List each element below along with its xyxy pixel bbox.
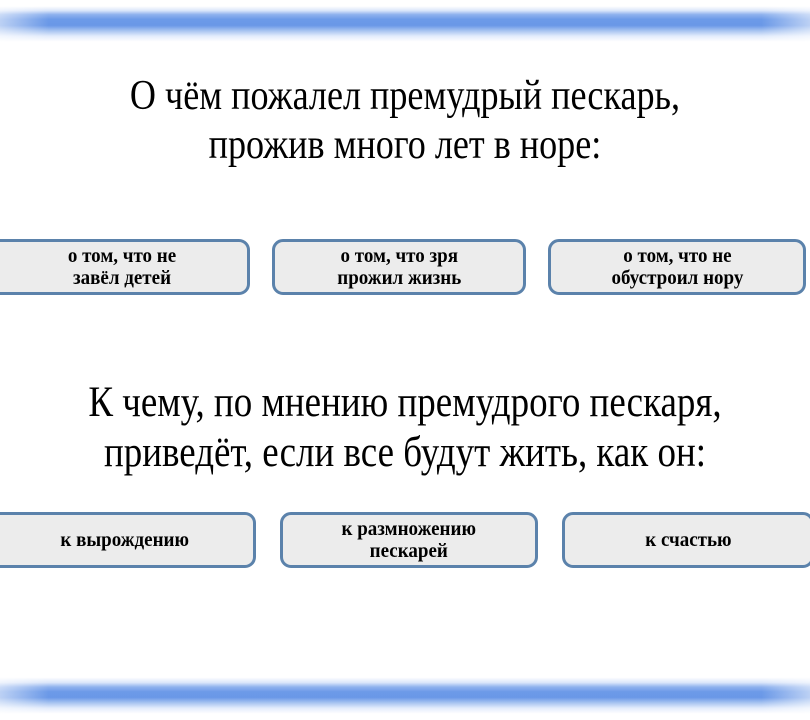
answer-button-q1-a2-label: о том, что зря прожил жизнь: [337, 245, 461, 290]
answer-button-q2-a3-label: к счастью: [645, 529, 731, 551]
answer-button-q1-a2[interactable]: о том, что зря прожил жизнь: [272, 239, 526, 295]
answer-button-q2-a3[interactable]: к счастью: [562, 512, 810, 568]
answer-button-q1-a1[interactable]: о том, что не завёл детей: [0, 239, 250, 295]
answer-button-q2-a2[interactable]: к размножению пескарей: [280, 512, 538, 568]
bottom-decorative-bar: [0, 672, 810, 716]
question-1-text: О чём пожалел премудрый пескарь, прожив …: [57, 72, 754, 169]
answer-button-q1-a1-label: о том, что не завёл детей: [68, 245, 176, 290]
answer-button-q2-a2-label: к размножению пескарей: [342, 518, 476, 563]
quiz-slide: О чём пожалел премудрый пескарь, прожив …: [0, 0, 810, 720]
top-decorative-bar: [0, 0, 810, 44]
answer-button-q2-a1-label: к вырождению: [61, 529, 190, 551]
question-1-answer-row: о том, что не завёл детей о том, что зря…: [0, 239, 810, 297]
answer-button-q2-a1[interactable]: к вырождению: [0, 512, 256, 568]
question-2-answer-row: к вырождению к размножению пескарей к сч…: [0, 512, 810, 570]
answer-button-q1-a3-label: о том, что не обустроил нору: [611, 245, 743, 290]
question-2-text: К чему, по мнению премудрого пескаря, пр…: [57, 378, 754, 478]
answer-button-q1-a3[interactable]: о том, что не обустроил нору: [548, 239, 806, 295]
